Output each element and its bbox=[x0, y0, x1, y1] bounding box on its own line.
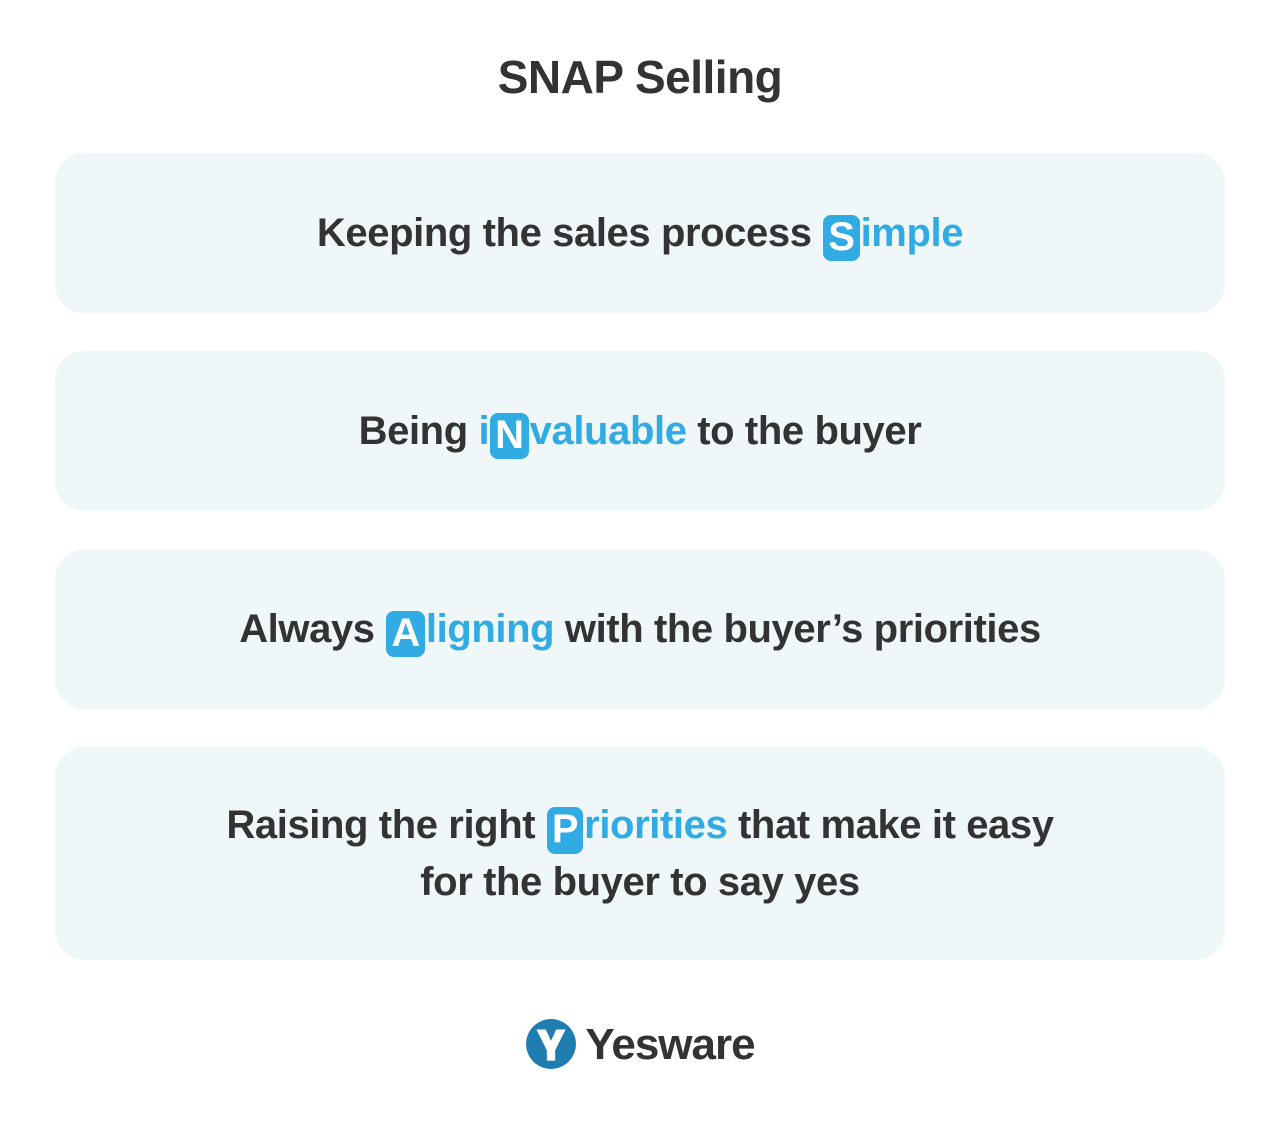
page-title: SNAP Selling bbox=[0, 52, 1280, 103]
card-invaluable: Being iNvaluable to the buyer bbox=[55, 351, 1225, 511]
highlight-letter-priorities: P bbox=[547, 807, 583, 854]
highlight-letter-invaluable: N bbox=[490, 413, 529, 460]
plain-text-invaluable: to the buyer bbox=[687, 409, 922, 453]
plain-text-aligning: Always bbox=[239, 607, 385, 651]
highlight-letter-aligning: A bbox=[386, 611, 425, 658]
plain-text-simple: Keeping the sales process bbox=[317, 211, 822, 255]
plain-text-priorities: Raising the right bbox=[226, 803, 545, 847]
accent-text-aligning: ligning bbox=[426, 607, 554, 651]
highlight-letter-simple: S bbox=[823, 215, 859, 262]
card-priorities-text: Raising the right Priorities that make i… bbox=[226, 797, 1053, 911]
card-invaluable-text: Being iNvaluable to the buyer bbox=[359, 403, 922, 460]
accent-text-invaluable: i bbox=[478, 409, 489, 453]
card-priorities: Raising the right Priorities that make i… bbox=[55, 747, 1225, 960]
plain-text-priorities: for the buyer to say yes bbox=[420, 860, 859, 904]
yesware-y-circle-icon bbox=[525, 1018, 577, 1070]
accent-text-invaluable: valuable bbox=[530, 409, 687, 453]
accent-text-simple: imple bbox=[861, 211, 963, 255]
logo-wordmark: Yesware bbox=[585, 1023, 754, 1067]
plain-text-invaluable: Being bbox=[359, 409, 479, 453]
plain-text-priorities: that make it easy bbox=[727, 803, 1053, 847]
card-aligning: Always Aligning with the buyer’s priorit… bbox=[55, 549, 1225, 709]
card-aligning-text: Always Aligning with the buyer’s priorit… bbox=[239, 601, 1041, 658]
accent-text-priorities: riorities bbox=[584, 803, 727, 847]
brand-logo: Yesware bbox=[0, 1018, 1280, 1070]
plain-text-aligning: with the buyer’s priorities bbox=[554, 607, 1041, 651]
card-simple: Keeping the sales process Simple bbox=[55, 153, 1225, 313]
card-simple-text: Keeping the sales process Simple bbox=[317, 205, 963, 262]
snap-selling-infographic: SNAP Selling Keeping the sales process S… bbox=[0, 0, 1280, 1129]
card-list: Keeping the sales process Simple Being i… bbox=[55, 153, 1225, 998]
